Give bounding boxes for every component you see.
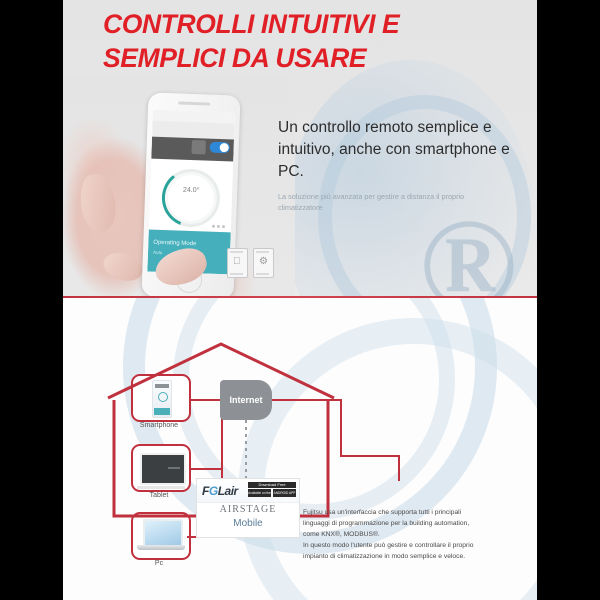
- download-free-label: Download Free: [248, 482, 296, 488]
- apple-icon: : [227, 248, 248, 278]
- wire-house-entry: [398, 455, 400, 481]
- page-title: CONTROLLI INTUITIVI E SEMPLICI DA USARE: [103, 8, 463, 75]
- airstage-brand-line2: Mobile: [197, 518, 299, 529]
- page-title-line2: SEMPLICI DA USARE: [103, 42, 463, 76]
- diagram-paragraph-1: Fujitsu usa un'interfaccia che supporta …: [303, 508, 485, 541]
- hero-panel: ® CONTROLLI INTUITIVI E SEMPLICI DA USAR…: [63, 0, 537, 298]
- hero-headline: Un controllo remoto semplice e intuitivo…: [278, 117, 528, 183]
- wire-down-right: [340, 399, 342, 457]
- content-frame: ® CONTROLLI INTUITIVI E SEMPLICI DA USAR…: [63, 0, 537, 600]
- phone-speaker: [178, 101, 210, 105]
- app-mode-button: [191, 140, 205, 154]
- fglair-logo: FGLair: [202, 484, 238, 498]
- hero-subtext: La soluzione più avanzata per gestire a …: [278, 191, 493, 213]
- android-icon: ⚙: [253, 248, 274, 278]
- airstage-brand-line1: AIRSTAGE: [197, 504, 299, 515]
- device-label-pc: Pc: [124, 560, 194, 567]
- google-play-button[interactable]: ANDROID APP ON Google play: [273, 489, 296, 497]
- app-store-badges:  ⚙: [227, 248, 274, 278]
- app-store-button[interactable]: Available on the App Store: [248, 489, 271, 497]
- wire-corner: [187, 536, 189, 538]
- diagram-paragraph-2: In questo modo l'utente può gestire e co…: [303, 541, 493, 563]
- page-root: ® CONTROLLI INTUITIVI E SEMPLICI DA USAR…: [0, 0, 600, 600]
- wire-to-house: [340, 455, 400, 457]
- page-title-line1: CONTROLLI INTUITIVI E: [103, 9, 399, 39]
- fglair-app-card: FGLair Download Free Available on the Ap…: [196, 478, 300, 538]
- diagram-panel: Smartphone Tablet Pc Internet: [63, 298, 537, 600]
- download-badges[interactable]: Download Free Available on the App Store…: [248, 482, 296, 497]
- hand-holding-phone-photo: 24.0° Operating Mode Auto  ⚙: [63, 78, 295, 298]
- hero-text-block: Un controllo remoto semplice e intuitivo…: [278, 117, 528, 213]
- page-dots: [212, 225, 225, 228]
